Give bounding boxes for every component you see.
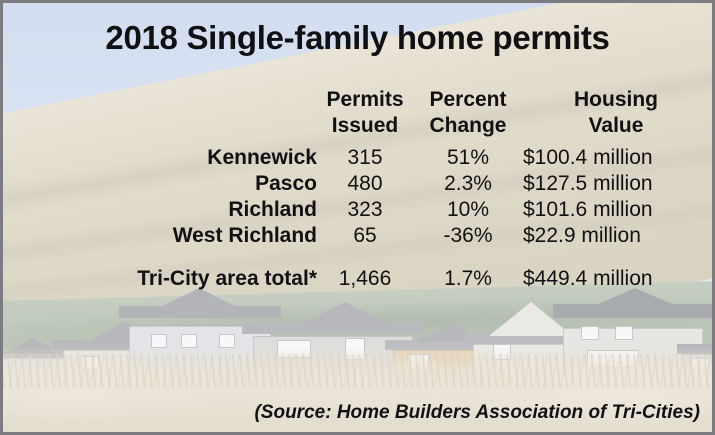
row-label: Richland <box>109 197 317 223</box>
source-attribution: (Source: Home Builders Association of Tr… <box>254 402 700 424</box>
infographic-card: 2018 Single-family home permits Permits … <box>0 0 715 435</box>
permits-table: Permits Issued Percent Change Housing Va… <box>109 87 709 292</box>
cell-permits-issued: 65 <box>317 223 413 249</box>
header-row: Permits Issued Percent Change Housing Va… <box>109 87 709 145</box>
cell-permits-issued: 323 <box>317 197 413 223</box>
column-header-permits-issued: Permits Issued <box>317 87 413 145</box>
header-line-2: Issued <box>317 113 413 139</box>
header-line-1: Permits <box>326 88 403 111</box>
row-label: Pasco <box>109 171 317 197</box>
table-body: Kennewick 315 51% $100.4 million Pasco 4… <box>109 145 709 292</box>
header-line-2: Value <box>523 113 709 139</box>
cell-permits-issued: 1,466 <box>317 249 413 292</box>
cell-percent-change: 10% <box>413 197 523 223</box>
cell-percent-change: 2.3% <box>413 171 523 197</box>
table-header: Permits Issued Percent Change Housing Va… <box>109 87 709 145</box>
cell-percent-change: -36% <box>413 223 523 249</box>
table-row: Pasco 480 2.3% $127.5 million <box>109 171 709 197</box>
row-label-total: Tri-City area total* <box>109 249 317 292</box>
cell-housing-value: $127.5 million <box>523 171 709 197</box>
header-line-1: Housing <box>574 88 658 111</box>
row-label: West Richland <box>109 223 317 249</box>
column-header-city <box>109 87 317 145</box>
cell-percent-change: 1.7% <box>413 249 523 292</box>
table-row: Richland 323 10% $101.6 million <box>109 197 709 223</box>
cell-permits-issued: 480 <box>317 171 413 197</box>
column-header-housing-value: Housing Value <box>523 87 709 145</box>
chart-title: 2018 Single-family home permits <box>3 19 712 57</box>
column-header-percent-change: Percent Change <box>413 87 523 145</box>
cell-housing-value: $101.6 million <box>523 197 709 223</box>
cell-percent-change: 51% <box>413 145 523 171</box>
table-row-total: Tri-City area total* 1,466 1.7% $449.4 m… <box>109 249 709 292</box>
header-line-2: Change <box>413 113 523 139</box>
cell-housing-value: $22.9 million <box>523 223 709 249</box>
cell-permits-issued: 315 <box>317 145 413 171</box>
cell-housing-value: $100.4 million <box>523 145 709 171</box>
header-line-1: Percent <box>429 88 506 111</box>
row-label: Kennewick <box>109 145 317 171</box>
cell-housing-value: $449.4 million <box>523 249 709 292</box>
table-row: West Richland 65 -36% $22.9 million <box>109 223 709 249</box>
chart-content: 2018 Single-family home permits Permits … <box>3 3 712 432</box>
table-row: Kennewick 315 51% $100.4 million <box>109 145 709 171</box>
